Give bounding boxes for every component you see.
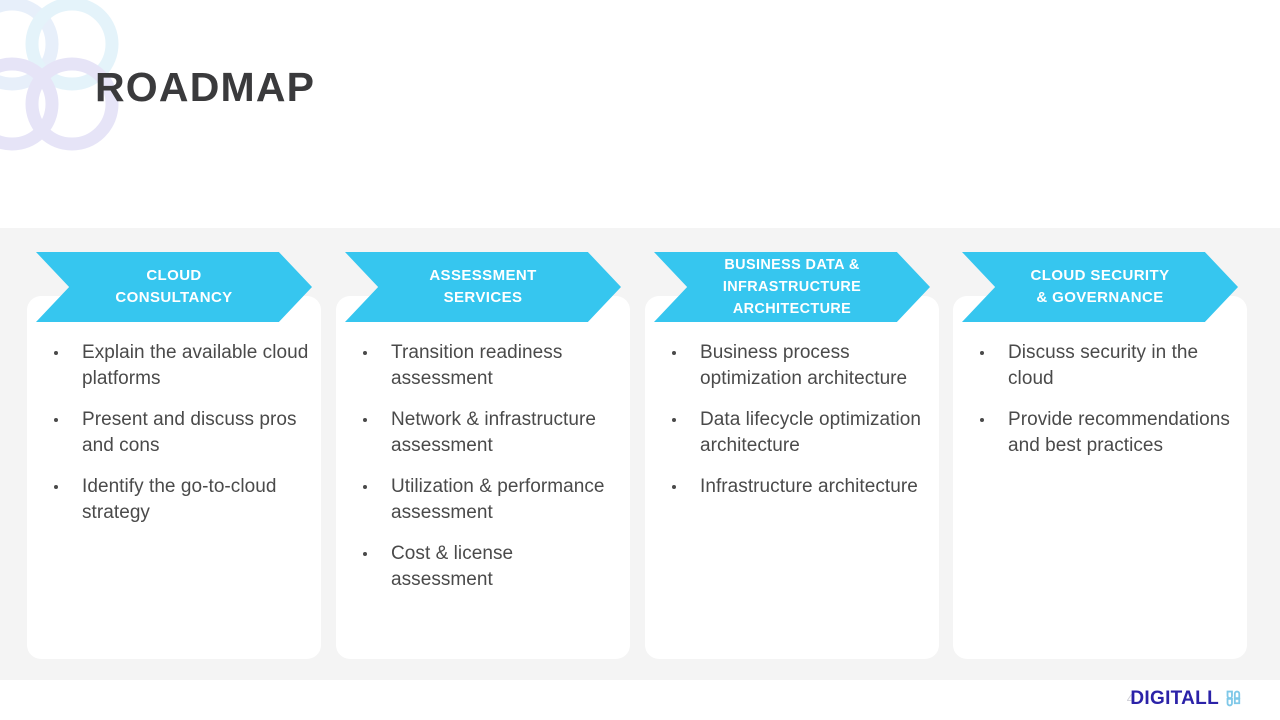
list-item: Transition readiness assessment	[349, 340, 619, 391]
list-item: Discuss security in the cloud	[966, 340, 1236, 391]
list-item-label: Cost & license assessment	[391, 543, 513, 590]
list-item-label: Present and discuss pros and cons	[82, 409, 297, 456]
brand-name: DIGITALL	[1130, 689, 1219, 708]
list-item: Utilization & performance assessment	[349, 474, 619, 525]
list-item-label: Business process optimization architectu…	[700, 342, 907, 389]
list-item: Network & infrastructure assessment	[349, 407, 619, 458]
list-item: Cost & license assessment	[349, 541, 619, 592]
roadmap-card-4-header: CLOUD SECURITY & GOVERNANCE	[962, 252, 1238, 322]
bullet-dot-icon	[672, 351, 676, 355]
list-item-label: Infrastructure architecture	[700, 476, 918, 497]
bullet-dot-icon	[363, 351, 367, 355]
list-item-label: Identify the go-to-cloud strategy	[82, 476, 276, 523]
bullet-dot-icon	[363, 418, 367, 422]
bullet-dot-icon	[672, 485, 676, 489]
bullet-dot-icon	[672, 418, 676, 422]
list-item-label: Data lifecycle optimization architecture	[700, 409, 921, 456]
brand-logo: DIGITALL	[1130, 689, 1244, 708]
roadmap-card-2-header-label: ASSESSMENT SERVICES	[399, 265, 566, 310]
roadmap-card-4-header-label: CLOUD SECURITY & GOVERNANCE	[1001, 265, 1200, 310]
list-item: Data lifecycle optimization architecture	[658, 407, 928, 458]
roadmap-card-3-header-label: BUSINESS DATA & INFRASTRUCTURE ARCHITECT…	[693, 254, 891, 321]
list-item-label: Network & infrastructure assessment	[391, 409, 596, 456]
roadmap-card-2-header: ASSESSMENT SERVICES	[345, 252, 621, 322]
roadmap-columns: CLOUD CONSULTANCY Explain the available …	[0, 228, 1280, 680]
roadmap-card-1-header: CLOUD CONSULTANCY	[36, 252, 312, 322]
roadmap-card-1-bullets: Explain the available cloud platforms Pr…	[40, 340, 310, 541]
list-item-label: Discuss security in the cloud	[1008, 342, 1198, 389]
roadmap-card-4-bullets: Discuss security in the cloud Provide re…	[966, 340, 1236, 474]
roadmap-card-2-bullets: Transition readiness assessment Network …	[349, 340, 619, 608]
bullet-dot-icon	[54, 485, 58, 489]
list-item-label: Transition readiness assessment	[391, 342, 562, 389]
list-item: Infrastructure architecture	[658, 474, 928, 500]
list-item: Identify the go-to-cloud strategy	[40, 474, 310, 525]
list-item-label: Provide recommendations and best practic…	[1008, 409, 1230, 456]
list-item-label: Utilization & performance assessment	[391, 476, 605, 523]
bullet-dot-icon	[980, 351, 984, 355]
list-item: Provide recommendations and best practic…	[966, 407, 1236, 458]
bullet-dot-icon	[363, 552, 367, 556]
roadmap-card-3-bullets: Business process optimization architectu…	[658, 340, 928, 516]
list-item: Explain the available cloud platforms	[40, 340, 310, 391]
list-item: Business process optimization architectu…	[658, 340, 928, 391]
roadmap-card-1-header-label: CLOUD CONSULTANCY	[85, 265, 262, 310]
bullet-dot-icon	[54, 418, 58, 422]
slide-root: ROADMAP CLOUD CONSULTANCY Explain the av…	[0, 0, 1280, 720]
bullet-dot-icon	[980, 418, 984, 422]
slide-footer: 4 DIGITALL	[0, 680, 1280, 720]
page-title: ROADMAP	[95, 67, 315, 108]
digitall-quatrefoil-icon	[1225, 689, 1244, 708]
list-item: Present and discuss pros and cons	[40, 407, 310, 458]
bullet-dot-icon	[54, 351, 58, 355]
roadmap-card-3-header: BUSINESS DATA & INFRASTRUCTURE ARCHITECT…	[654, 252, 930, 322]
list-item-label: Explain the available cloud platforms	[82, 342, 308, 389]
bullet-dot-icon	[363, 485, 367, 489]
